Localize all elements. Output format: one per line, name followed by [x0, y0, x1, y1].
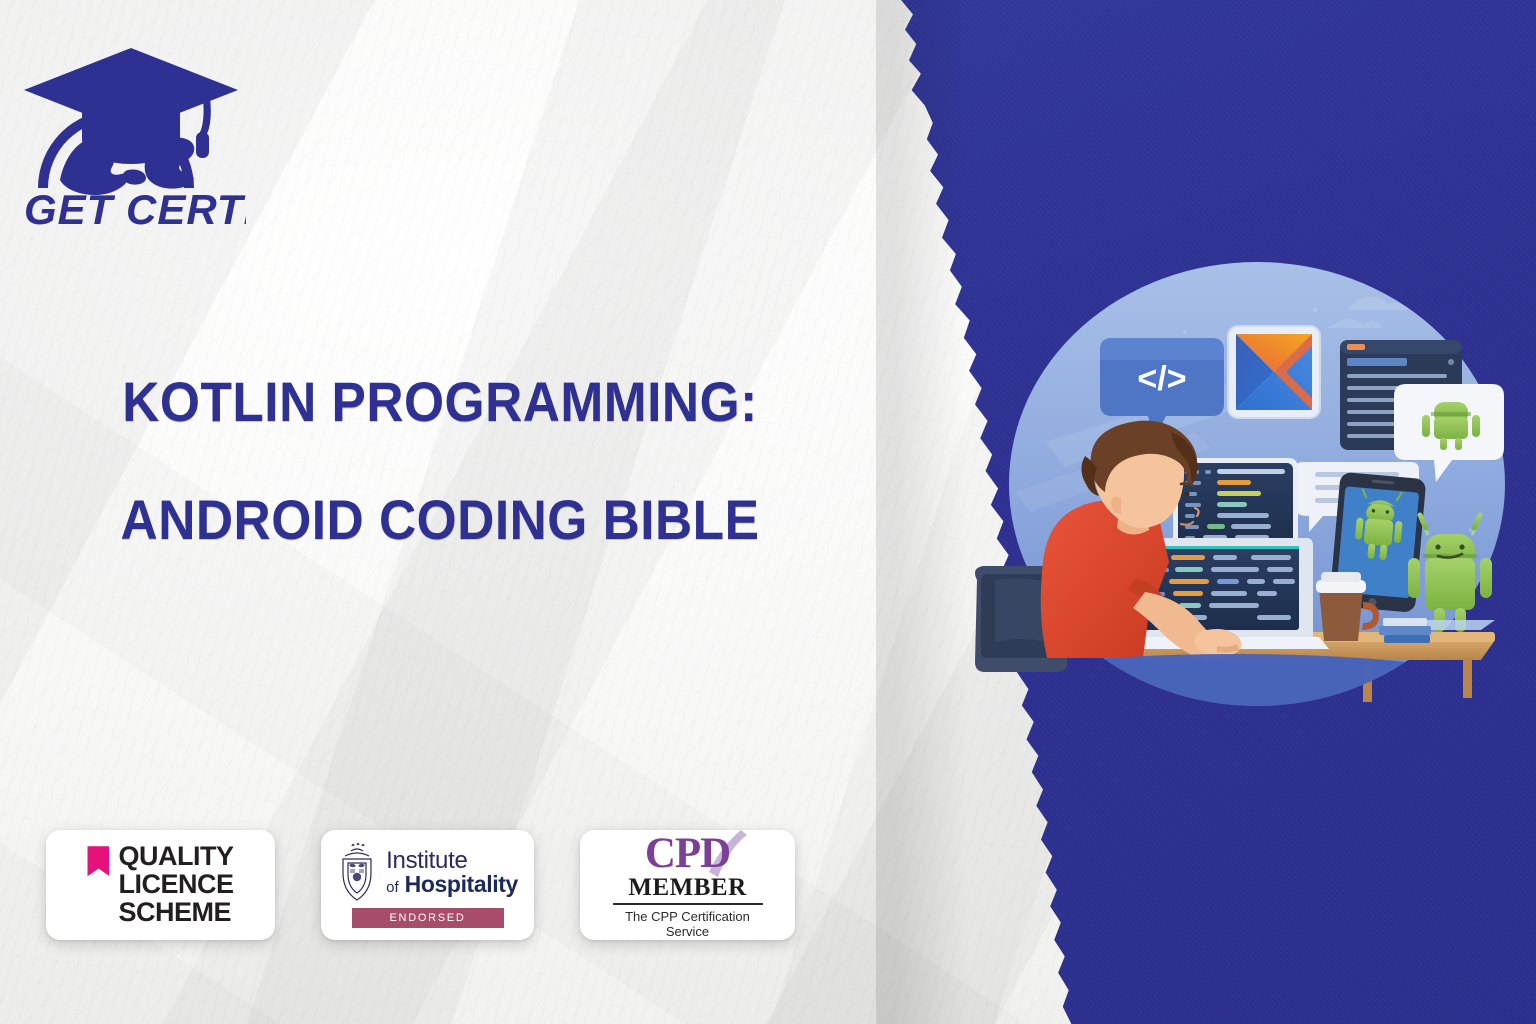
heraldic-crest-icon — [337, 843, 377, 903]
ioh-word-institute: Institute — [386, 849, 518, 873]
badge-quality-licence-scheme[interactable]: QUALITY LICENCE SCHEME — [46, 830, 275, 940]
cpd-subline-2: Service — [625, 924, 750, 939]
qls-line-1: QUALITY — [118, 843, 233, 871]
accreditation-badges: QUALITY LICENCE SCHEME — [46, 830, 795, 940]
cpd-subline-1: The CPP Certification — [625, 909, 750, 924]
qls-line-3: SCHEME — [118, 899, 233, 927]
poster-canvas: GET CERTIFY KOTLIN PROGRAMMING: ANDROID … — [0, 0, 1536, 1024]
brand-logo[interactable]: GET CERTIFY — [16, 28, 246, 228]
ioh-endorsed-banner: ENDORSED — [352, 908, 504, 928]
books-stack — [1379, 618, 1431, 643]
logo-wordmark: GET CERTIFY — [24, 186, 246, 228]
graduation-cap-globe-icon: GET CERTIFY — [16, 28, 246, 228]
title-line-2: ANDROID CODING BIBLE — [35, 492, 845, 548]
qls-line-2: LICENCE — [118, 871, 233, 899]
ioh-word-of: of — [386, 879, 399, 896]
title-line-1: KOTLIN PROGRAMMING: — [35, 374, 845, 430]
badge-cpd-member[interactable]: CPD MEMBER The CPP Certification Service — [580, 830, 795, 940]
cpd-divider — [613, 903, 763, 905]
ioh-word-hospitality: Hospitality — [405, 871, 518, 897]
kotlin-logo-tile — [1228, 326, 1320, 418]
pink-ribbon-bookmark-icon — [87, 846, 109, 876]
hero-illustration: </> — [985, 262, 1530, 722]
code-glyph: </> — [1137, 360, 1186, 398]
page-title: KOTLIN PROGRAMMING: ANDROID CODING BIBLE — [0, 374, 880, 548]
cpd-letters: CPD — [613, 831, 763, 877]
badge-institute-of-hospitality[interactable]: Institute of Hospitality ENDORSED — [321, 830, 534, 940]
